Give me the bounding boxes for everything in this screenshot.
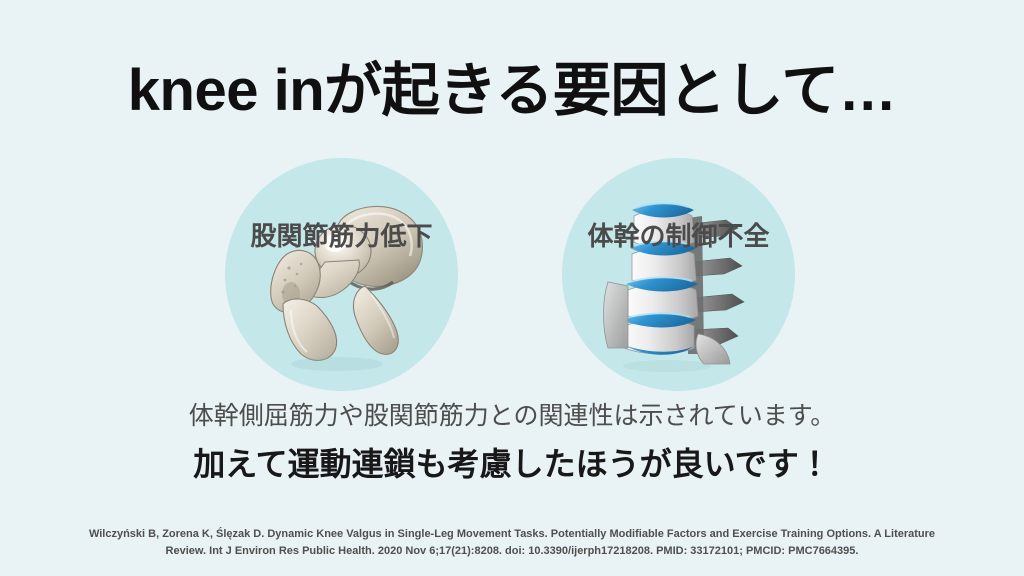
concept-circle-row: 股関節筋力低下 (0, 158, 1024, 392)
page-title: knee inが起きる要因として… (0, 55, 1024, 127)
hip-joint-bone-icon (225, 158, 458, 391)
lead-text: 体幹側屈筋力や股関節筋力との関連性は示されています。 (0, 400, 1024, 432)
concept-circle-label-hip: 股関節筋力低下 (225, 216, 458, 253)
citation-line-2: Review. Int J Environ Res Public Health.… (50, 543, 974, 560)
slide-canvas: knee inが起きる要因として… (0, 0, 1024, 576)
citation-line-1: Wilczyński B, Zorena K, Ślęzak D. Dynami… (50, 526, 974, 543)
concept-circle-hip-muscle-weakness: 股関節筋力低下 (225, 158, 458, 391)
concept-circle-trunk-control-deficit: 体幹の制御不全 (562, 158, 795, 391)
emphasis-text: 加えて運動連鎖も考慮したほうが良いです！ (0, 443, 1024, 485)
concept-circle-label-trunk: 体幹の制御不全 (562, 216, 795, 253)
lumbar-spine-icon (562, 158, 795, 391)
citation: Wilczyński B, Zorena K, Ślęzak D. Dynami… (50, 526, 974, 560)
